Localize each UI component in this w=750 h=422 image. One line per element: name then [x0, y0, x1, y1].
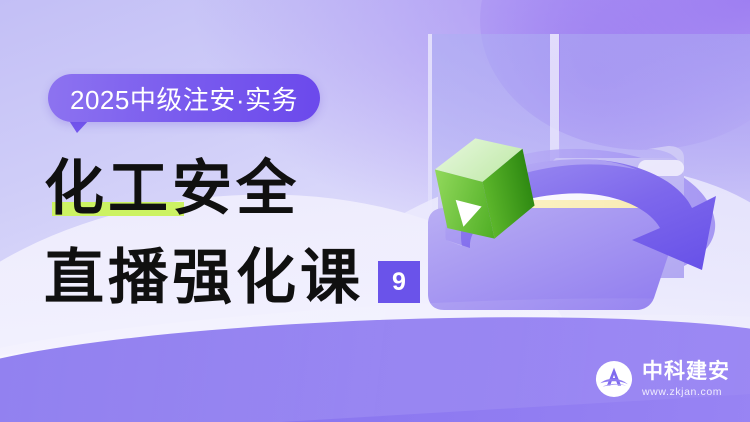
headline-line-1-row: 化工安全: [44, 152, 464, 226]
course-banner: 2025中级注安·实务 化工安全 直播强化课 9 中科建安 w: [0, 0, 750, 422]
episode-number-badge: 9: [378, 261, 420, 303]
logo-brand-name: 中科建安: [642, 361, 730, 382]
text-content: 2025中级注安·实务 化工安全 直播强化课 9: [0, 0, 470, 422]
headline-line-1: 化工安全: [44, 152, 464, 226]
logo-website-url: www.zkjan.com: [642, 387, 730, 398]
course-category-label: 2025中级注安·实务: [70, 80, 298, 117]
headline: 化工安全 直播强化课 9: [44, 152, 464, 316]
course-category-badge: 2025中级注安·实务: [48, 74, 320, 122]
headline-line-2-row: 直播强化课 9: [44, 240, 464, 316]
headline-line-2: 直播强化课: [44, 240, 364, 316]
episode-number-label: 9: [392, 268, 406, 297]
logo-text-block: 中科建安 www.zkjan.com: [642, 361, 730, 398]
brand-logo: 中科建安 www.zkjan.com: [595, 360, 730, 398]
zkjan-circle-logo-icon: [595, 360, 633, 398]
